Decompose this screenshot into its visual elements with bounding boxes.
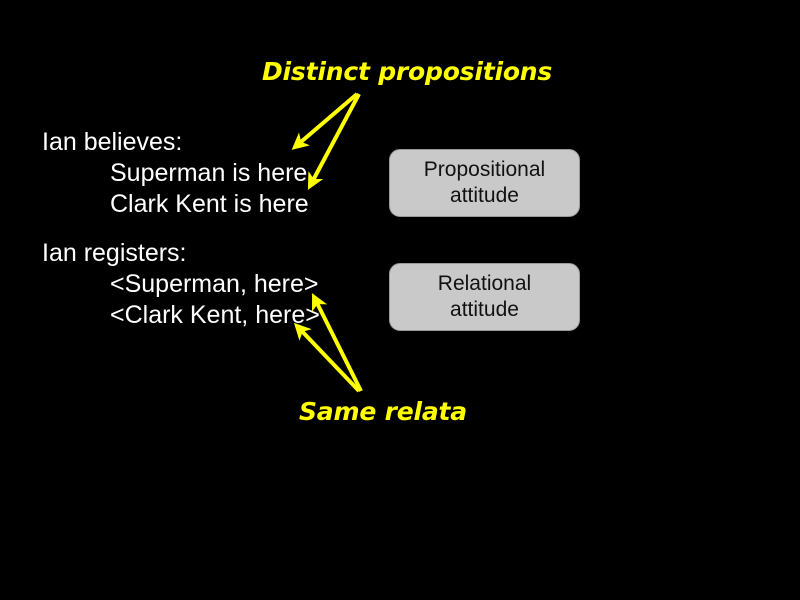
annotation-same-relata: Same relata xyxy=(299,397,467,426)
callout-box-propositional-line1: Propositional xyxy=(424,157,545,183)
believes-line-clark-kent: Clark Kent is here xyxy=(42,189,309,220)
arrow-same-relata-to-superman-tuple xyxy=(314,297,361,391)
callout-box-relational-label: Relational attitude xyxy=(438,271,531,323)
callout-box-propositional-attitude: Propositional attitude xyxy=(389,149,580,217)
believes-block: Ian believes: Superman is here Clark Ken… xyxy=(42,127,309,220)
callout-box-relational-line2: attitude xyxy=(438,297,531,323)
registers-block: Ian registers: <Superman, here> <Clark K… xyxy=(42,238,320,331)
callout-box-relational-line1: Relational xyxy=(438,271,531,297)
callout-box-propositional-line2: attitude xyxy=(424,183,545,209)
believes-heading: Ian believes: xyxy=(42,127,309,158)
callout-box-propositional-label: Propositional attitude xyxy=(424,157,545,209)
slide-canvas: Distinct propositions Ian believes: Supe… xyxy=(0,0,800,600)
arrow-same-relata-to-clark-kent-tuple xyxy=(297,326,359,391)
registers-heading: Ian registers: xyxy=(42,238,320,269)
annotation-distinct-propositions: Distinct propositions xyxy=(262,57,552,86)
registers-line-clark-kent: <Clark Kent, here> xyxy=(42,300,320,331)
registers-line-superman: <Superman, here> xyxy=(42,269,320,300)
callout-box-relational-attitude: Relational attitude xyxy=(389,263,580,331)
arrow-distinct-to-clark-kent xyxy=(310,94,359,186)
believes-line-superman: Superman is here xyxy=(42,158,309,189)
